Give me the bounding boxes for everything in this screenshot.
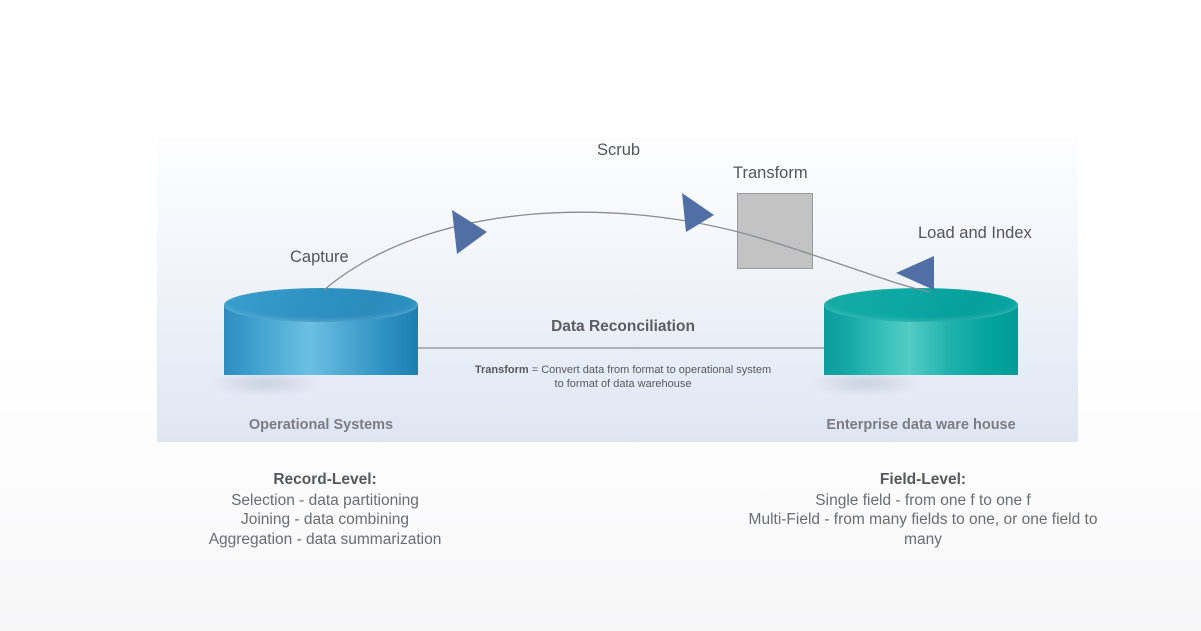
note-text: = Convert data from format to operationa…: [529, 364, 771, 390]
record-level-line: Joining - data combining: [178, 510, 472, 530]
label-scrub: Scrub: [597, 141, 640, 160]
caption-enterprise-data-warehouse: Enterprise data ware house: [824, 417, 1018, 433]
cylinder-bottom-ellipse: [824, 341, 1018, 375]
data-reconciliation-note: Transform = Convert data from format to …: [473, 363, 773, 391]
note-term: Transform: [475, 364, 529, 376]
record-level-column: Record-Level: Selection - data partition…: [178, 470, 472, 549]
caption-operational-systems: Operational Systems: [224, 417, 418, 433]
transform-box: [737, 193, 813, 269]
field-level-heading: Field-Level:: [745, 470, 1101, 490]
enterprise-data-warehouse-cylinder: [824, 288, 1018, 392]
record-level-line: Aggregation - data summarization: [178, 530, 472, 550]
cylinder-bottom-ellipse: [224, 341, 418, 375]
operational-systems-cylinder: [224, 288, 418, 392]
field-level-line: Single field - from one f to one f: [745, 491, 1101, 511]
cylinder-top-ellipse: [224, 288, 418, 322]
field-level-line: Multi-Field - from many fields to one, o…: [745, 510, 1101, 549]
cylinder-top-ellipse: [824, 288, 1018, 322]
record-level-heading: Record-Level:: [178, 470, 472, 490]
diagram-canvas: Scrub Transform Capture Load and Index O…: [0, 0, 1201, 631]
data-reconciliation-title: Data Reconciliation: [453, 318, 793, 336]
label-load-and-index: Load and Index: [918, 224, 1032, 243]
label-capture: Capture: [290, 248, 349, 267]
label-transform: Transform: [733, 164, 808, 183]
record-level-line: Selection - data partitioning: [178, 491, 472, 511]
field-level-column: Field-Level: Single field - from one f t…: [745, 470, 1101, 549]
